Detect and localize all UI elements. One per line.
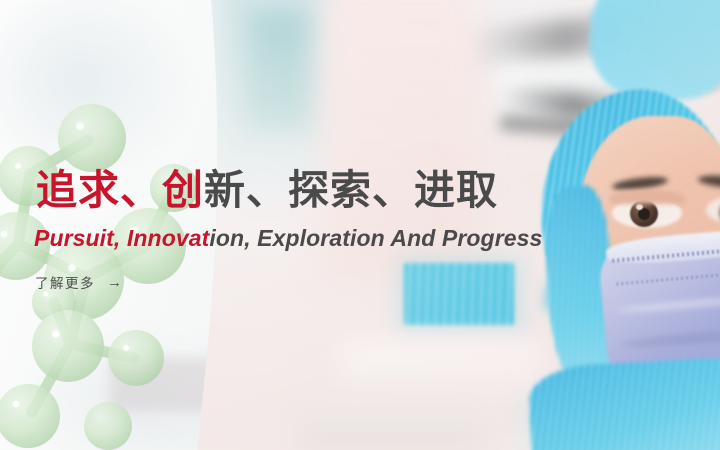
hero-content: 追求、创新、探索、进取 Pursuit, Innovation, Explora… (0, 0, 720, 450)
arrow-right-icon: → (107, 275, 122, 290)
page-title-red-part: 追求、创 (36, 167, 204, 213)
page-subtitle: Pursuit, Innovation, Exploration And Pro… (34, 225, 542, 252)
learn-more-label: 了解更多 (35, 272, 95, 292)
page-title-gray-part: 新、探索、进取 (204, 167, 498, 213)
learn-more-link[interactable]: 了解更多 → (35, 272, 122, 292)
hero-banner: 追求、创新、探索、进取 Pursuit, Innovation, Explora… (0, 0, 720, 450)
page-subtitle-red-part: Pursuit, Innovat (34, 225, 209, 251)
page-title: 追求、创新、探索、进取 (36, 170, 498, 211)
page-subtitle-gray-part: ion, Exploration And Progress (209, 225, 542, 251)
